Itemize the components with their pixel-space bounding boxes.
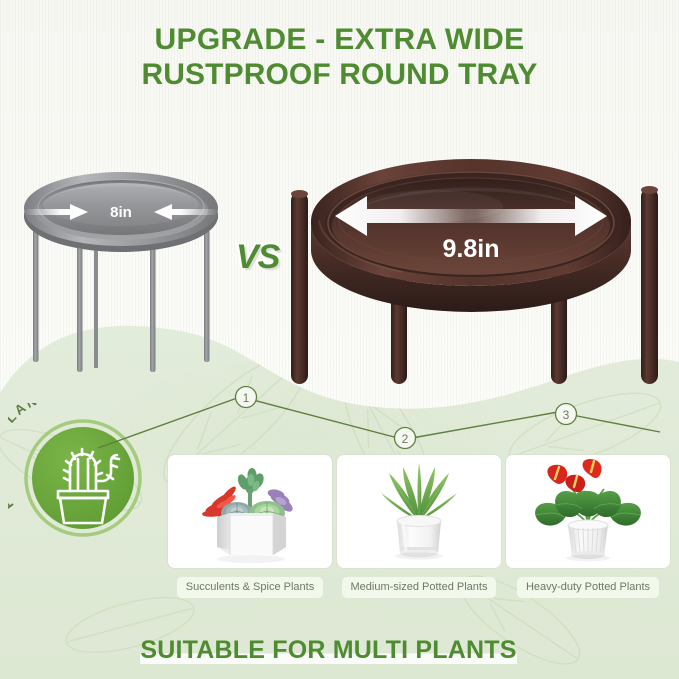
plant-card-image <box>337 455 501 568</box>
silver-tray-stand-illustration: 8in <box>14 160 229 375</box>
bottom-banner-text: SUITABLE FOR MULTI PLANTS <box>140 636 516 664</box>
ribbed-white-pot-red-anthurium-icon <box>506 455 670 568</box>
plant-card[interactable]: Succulents & Spice Plants <box>168 455 332 613</box>
plant-cards-row: Succulents & Spice Plants <box>168 455 672 613</box>
plant-card[interactable]: Heavy-duty Potted Plants <box>506 455 670 613</box>
connector-marker-1-label: 1 <box>243 391 250 405</box>
page-title: UPGRADE - EXTRA WIDE RUSTPROOF ROUND TRA… <box>0 22 679 92</box>
infographic-canvas: UPGRADE - EXTRA WIDE RUSTPROOF ROUND TRA… <box>0 0 679 679</box>
title-line-1: UPGRADE - EXTRA WIDE <box>0 22 679 57</box>
hexagonal-white-pot-mixed-succulents-icon <box>168 455 332 568</box>
brown-tray-dimension-label: 9.8in <box>443 235 500 263</box>
connector-marker-3-label: 3 <box>563 408 570 422</box>
connector-lines <box>98 397 660 448</box>
vs-label: VS <box>236 238 279 277</box>
plant-card[interactable]: Medium-sized Potted Plants <box>337 455 501 613</box>
bottom-banner: SUITABLE FOR MULTI PLANTS <box>0 636 679 665</box>
plant-card-image <box>168 455 332 568</box>
title-line-2: RUSTPROOF ROUND TRAY <box>0 57 679 92</box>
connector-marker-2-label: 2 <box>402 432 409 446</box>
plant-card-caption: Medium-sized Potted Plants <box>342 577 497 598</box>
brown-tray-stand-illustration: 9.8in <box>283 124 673 384</box>
plant-card-image <box>506 455 670 568</box>
anthurium-flowers <box>547 459 601 492</box>
plant-card-caption: Succulents & Spice Plants <box>177 577 323 598</box>
plant-card-caption: Heavy-duty Potted Plants <box>517 577 659 598</box>
round-white-pot-aloe-plant-icon <box>337 455 501 568</box>
silver-tray-dimension-label: 8in <box>110 204 132 221</box>
